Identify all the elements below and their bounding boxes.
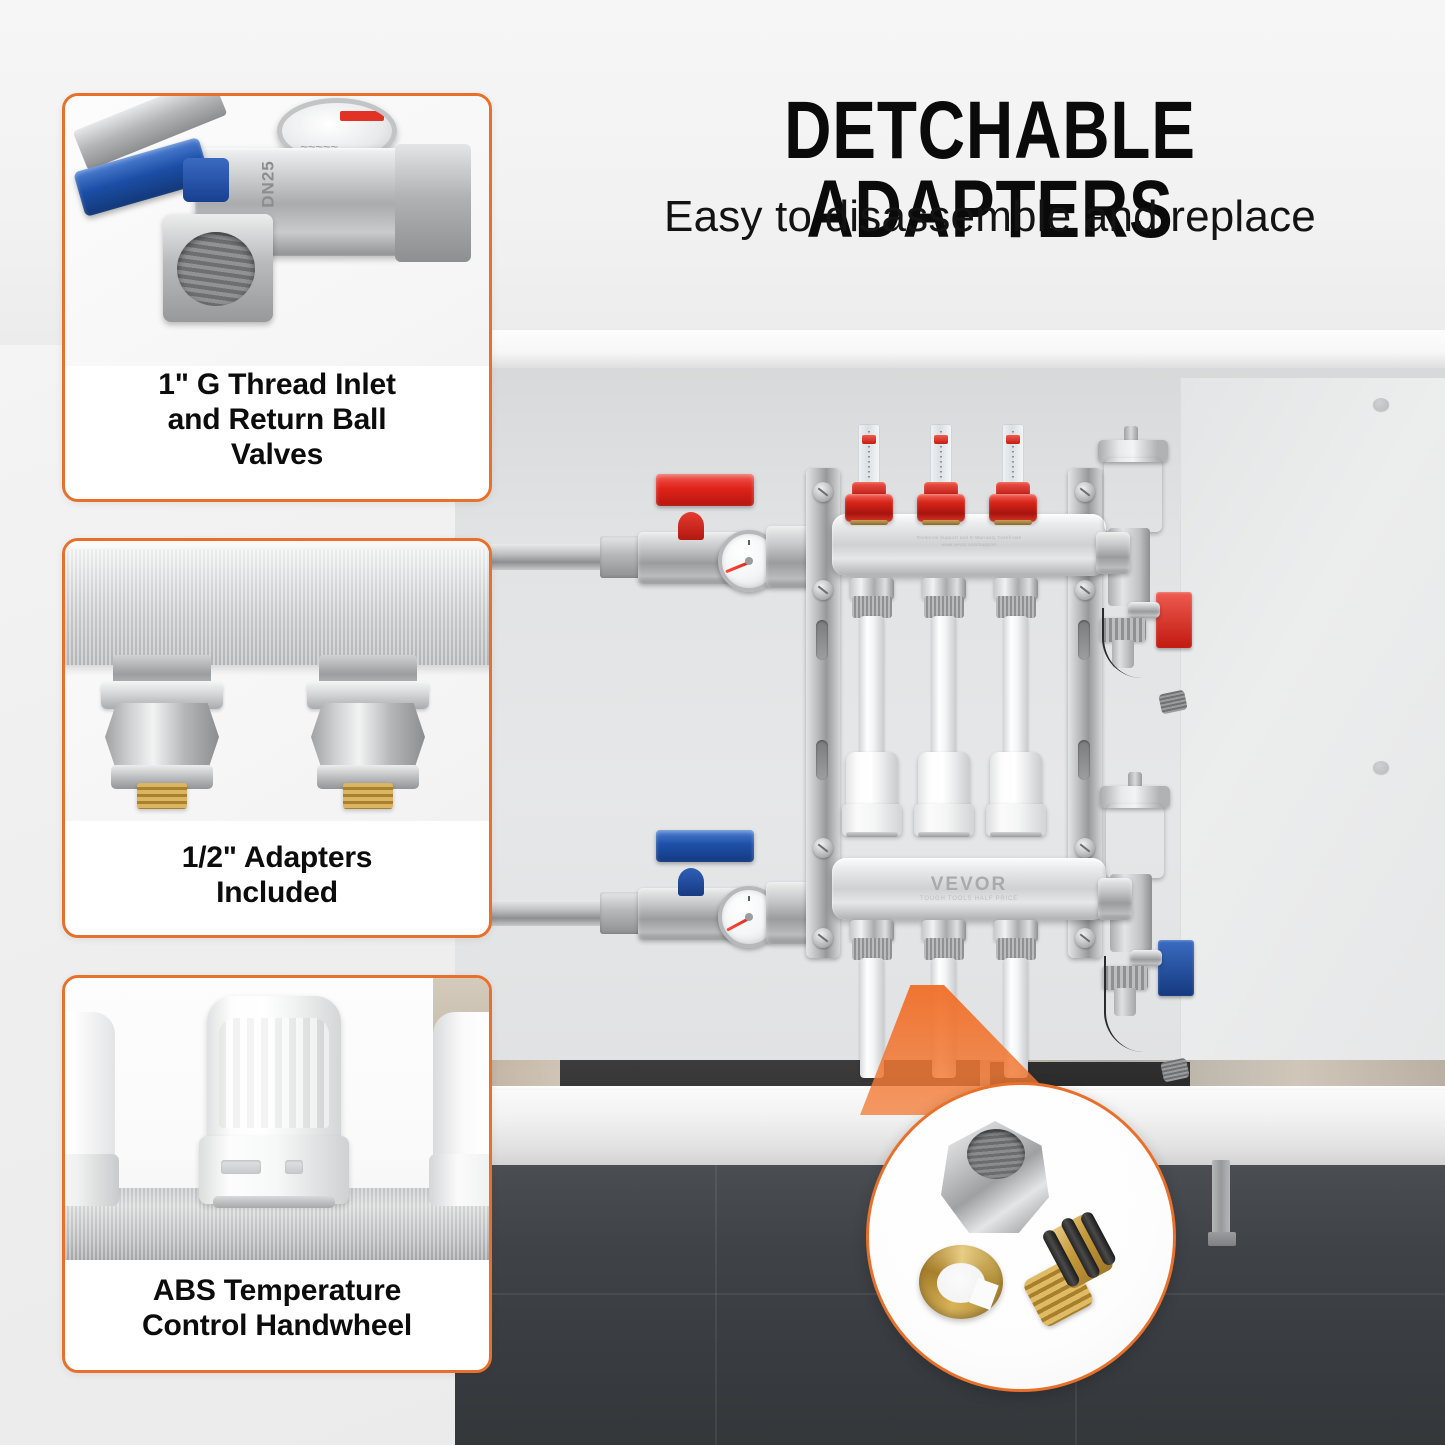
nut-knurl <box>924 938 964 960</box>
return-valve-handle[interactable] <box>656 830 754 862</box>
vent-tee-body <box>1098 878 1132 920</box>
gauge-tick <box>748 896 750 901</box>
vevor-brand-logo: VEVOR <box>832 874 1106 896</box>
callout-photo-handwheel <box>65 978 489 1260</box>
bracket-screw-icon <box>1075 482 1095 502</box>
gauge-red-band <box>340 111 384 121</box>
valve-size-marking: DN25 <box>259 160 279 207</box>
bracket-screw-icon <box>813 928 833 948</box>
callout-label-ball-valves-line2: and Return Ball <box>65 403 489 437</box>
callout-card-adapters: 1/2" Adapters Included <box>62 538 492 938</box>
pex-pipe <box>932 616 956 758</box>
bracket-screw-icon <box>813 482 833 502</box>
pex-pipe <box>1004 616 1028 758</box>
nut-knurl <box>852 938 892 960</box>
handwheel-seat-ring <box>213 1196 335 1208</box>
ceiling-edge <box>455 330 1445 370</box>
drain-tether-top <box>1102 608 1172 678</box>
handwheel-cap <box>65 1012 115 1162</box>
handwheel-base <box>65 1154 119 1206</box>
handwheel-cap[interactable] <box>918 752 970 810</box>
callout-label-ball-valves-line1: 1" G Thread Inlet <box>65 368 489 402</box>
handwheel-flutes <box>219 1018 329 1128</box>
handwheel-cap[interactable] <box>990 752 1042 810</box>
flowmeter-cap[interactable] <box>917 494 965 522</box>
handwheel-cap[interactable] <box>207 996 341 1146</box>
handwheel-slot <box>221 1160 261 1174</box>
gauge-hub <box>745 557 753 565</box>
return-valve-stem <box>678 868 704 896</box>
drain-cap-clip-top-icon <box>1158 690 1188 715</box>
bracket-slot <box>1078 620 1090 660</box>
callout-photo-ball-valve: ~~~~~ DN25 <box>65 96 489 366</box>
handwheel-base <box>429 1154 489 1206</box>
bracket-screw-icon <box>1075 838 1095 858</box>
pipe-union-bottom <box>600 892 642 934</box>
page-subtitle: Easy to disassemble and replace <box>560 192 1420 242</box>
bracket-slot <box>816 740 828 780</box>
callout-card-ball-valves: ~~~~~ DN25 1" G Thread Inlet and Return … <box>62 93 492 502</box>
blue-valve-handle-hub <box>183 158 229 202</box>
brushed-steel-texture <box>65 549 489 665</box>
flowmeter-tube <box>1002 424 1024 486</box>
drain-cap-clip-bottom-icon <box>1160 1058 1190 1083</box>
floor-seam <box>715 1165 717 1445</box>
bracket-screw-icon <box>1075 580 1095 600</box>
nut-knurl <box>996 596 1036 618</box>
vent-tee-body <box>1096 532 1130 574</box>
handwheel-left-partial <box>65 1012 115 1212</box>
handwheel-cap[interactable] <box>846 752 898 810</box>
cabinet-foot <box>1208 1232 1236 1246</box>
flowmeter-cap[interactable] <box>845 494 893 522</box>
manifold-bar-closeup <box>65 549 489 665</box>
adapter-fitting-right <box>301 655 435 805</box>
pex-pipe <box>860 616 884 758</box>
gauge-hub <box>745 913 753 921</box>
adapter-hex-nut <box>311 703 425 771</box>
drain-tether-bottom <box>1104 956 1176 1052</box>
flowmeter-tube <box>858 424 880 486</box>
adapter-brass-thread <box>137 783 187 809</box>
upper-bar-support-text: Technical Support and E-Warranty Certifi… <box>832 535 1106 549</box>
bracket-screw-icon <box>1075 928 1095 948</box>
adapter-hex-nut <box>105 703 219 771</box>
callout-label-adapters-line1: 1/2" Adapters <box>65 841 489 875</box>
callout-card-handwheel: ABS Temperature Control Handwheel <box>62 975 492 1373</box>
flowmeter-brass-ring <box>994 520 1032 525</box>
callout-label-handwheel-line1: ABS Temperature <box>65 1274 489 1308</box>
vent-body <box>1106 804 1164 878</box>
flowmeter-brass-ring <box>922 520 960 525</box>
callout-label-adapters-line2: Included <box>65 876 489 910</box>
product-infographic: Technical Support and E-Warranty Certifi… <box>0 0 1445 1445</box>
flowmeter-brass-ring <box>850 520 888 525</box>
nut-knurl <box>852 596 892 618</box>
bracket-slot <box>1078 740 1090 780</box>
detail-callout-circle <box>866 1082 1176 1392</box>
callout-label-handwheel-line2: Control Handwheel <box>65 1309 489 1343</box>
handwheel-right-partial <box>433 1012 489 1212</box>
panel-screw-bottom-icon <box>1373 761 1389 774</box>
handwheel-ring <box>918 832 970 837</box>
vevor-tagline: TOUGH TOOLS HALF PRICE <box>832 896 1106 902</box>
handwheel-ring <box>846 832 898 837</box>
adapter-brass-thread <box>343 783 393 809</box>
nut-knurl <box>996 938 1036 960</box>
handwheel-ring <box>990 832 1042 837</box>
flowmeter-float <box>1006 435 1020 444</box>
flowmeter-float <box>934 435 948 444</box>
g-thread-bore <box>177 232 255 306</box>
cabinet-leg <box>1212 1160 1230 1240</box>
chrome-nut-thread-bore <box>967 1129 1025 1179</box>
flowmeter-tube <box>930 424 952 486</box>
supply-valve-handle[interactable] <box>656 474 754 506</box>
handwheel-base <box>199 1136 349 1204</box>
pex-pipe <box>860 958 884 1078</box>
callout-photo-adapters <box>65 541 489 821</box>
supply-valve-stem <box>678 512 704 540</box>
lower-manifold-bar: VEVOR TOUGH TOOLS HALF PRICE <box>832 858 1106 920</box>
panel-screw-top-icon <box>1373 398 1389 411</box>
flowmeter-cap[interactable] <box>989 494 1037 522</box>
pipe-union-top <box>600 536 642 578</box>
manifold-assembly: Technical Support and E-Warranty Certifi… <box>600 420 1240 1080</box>
adapter-fitting-left <box>95 655 229 805</box>
bracket-screw-icon <box>813 838 833 858</box>
bracket-screw-icon <box>813 580 833 600</box>
nut-knurl <box>924 596 964 618</box>
gauge-tick <box>748 540 750 545</box>
flowmeter-float <box>862 435 876 444</box>
valve-union-end <box>395 144 471 262</box>
handwheel-center[interactable] <box>199 996 349 1214</box>
vent-body <box>1104 458 1162 532</box>
callout-label-ball-valves-line3: Valves <box>65 438 489 472</box>
handwheel-slot <box>285 1160 303 1174</box>
bracket-slot <box>816 620 828 660</box>
handwheel-cap <box>433 1012 489 1162</box>
